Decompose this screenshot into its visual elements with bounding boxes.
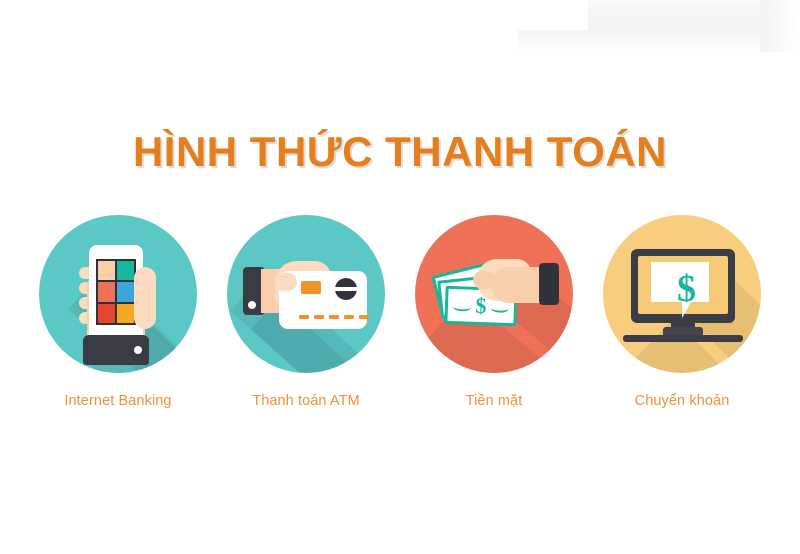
payment-method-label: Internet Banking bbox=[64, 393, 171, 409]
payment-method-label: Thanh toán ATM bbox=[252, 393, 360, 409]
payment-method-label: Tiền mặt bbox=[466, 393, 523, 409]
sleeve-cuff bbox=[83, 335, 149, 365]
payment-method-atm[interactable]: Thanh toán ATM bbox=[227, 215, 385, 409]
hand-holding-credit-card-icon[interactable] bbox=[227, 215, 385, 373]
top-right-grey-artifact bbox=[518, 0, 800, 52]
thumb bbox=[134, 267, 156, 329]
cuff-button bbox=[134, 346, 142, 354]
payment-method-cash[interactable]: $ $ Tiền mặt bbox=[415, 215, 573, 409]
hand-holding-cash-icon[interactable]: $ $ bbox=[415, 215, 573, 373]
payment-methods-row: Internet Banking bbox=[0, 215, 800, 409]
payment-methods-infographic: HÌNH THỨC THANH TOÁN bbox=[0, 0, 800, 554]
monitor-frame: $ bbox=[631, 249, 735, 323]
card-number-dashes bbox=[299, 315, 369, 319]
payment-method-label: Chuyển khoản bbox=[635, 393, 730, 409]
card-chip-icon bbox=[301, 281, 321, 294]
monitor-money-transfer-icon[interactable]: $ bbox=[603, 215, 761, 373]
card-logo-icon bbox=[335, 278, 357, 300]
phone-screen-tiles bbox=[96, 259, 136, 325]
monitor-base bbox=[623, 335, 743, 342]
cuff-button bbox=[248, 301, 256, 309]
payment-method-bank-transfer[interactable]: $ Chuyển khoản bbox=[603, 215, 761, 409]
forearm bbox=[491, 267, 543, 303]
speech-bubble: $ bbox=[651, 262, 709, 302]
hand-holding-phone-icon[interactable] bbox=[39, 215, 197, 373]
payment-method-internet-banking[interactable]: Internet Banking bbox=[39, 215, 197, 409]
sleeve-cuff bbox=[539, 263, 559, 305]
thumb bbox=[275, 273, 297, 291]
speech-bubble-tail bbox=[682, 302, 691, 318]
page-title: HÌNH THỨC THANH TOÁN bbox=[0, 128, 800, 176]
monitor-screen: $ bbox=[638, 256, 728, 314]
